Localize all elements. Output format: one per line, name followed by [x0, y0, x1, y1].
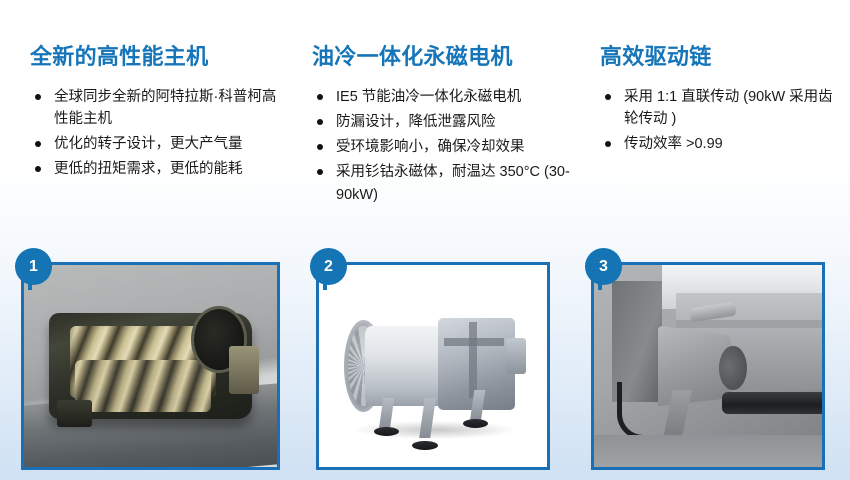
column-2-title: 油冷一体化永磁电机 [312, 44, 576, 70]
feature-column-2: 油冷一体化永磁电机 IE5 节能油冷一体化永磁电机 防漏设计，降低泄露风险 受环… [296, 0, 586, 250]
figure-row: 1 2 3 [0, 248, 850, 480]
photo-housing-rib-v [469, 322, 477, 399]
list-item: 传动效率 >0.99 [600, 133, 836, 155]
feature-column-1: 全新的高性能主机 全球同步全新的阿特拉斯·科普柯高性能主机 优化的转子设计，更大… [0, 0, 296, 250]
drive-train-photo [594, 265, 822, 467]
photo-floor [594, 435, 822, 467]
column-1-title: 全新的高性能主机 [30, 44, 278, 70]
feature-column-3: 高效驱动链 采用 1:1 直联传动 (90kW 采用齿轮传动 ) 传动效率 >0… [586, 0, 850, 250]
badge-number: 2 [310, 248, 347, 285]
column-3-title: 高效驱动链 [600, 44, 836, 70]
list-item: 采用钐钴永磁体，耐温达 350°C (30-90kW) [312, 161, 576, 205]
list-item: 全球同步全新的阿特拉斯·科普柯高性能主机 [30, 86, 278, 130]
column-2-bullet-list: IE5 节能油冷一体化永磁电机 防漏设计，降低泄露风险 受环境影响小，确保冷却效… [312, 86, 576, 205]
figure-badge-2: 2 [310, 248, 347, 285]
photo-mounting-foot [57, 400, 92, 426]
feature-columns: 全新的高性能主机 全球同步全新的阿特拉斯·科普柯高性能主机 优化的转子设计，更大… [0, 0, 850, 250]
list-item: IE5 节能油冷一体化永磁电机 [312, 86, 576, 108]
figure-badge-3: 3 [585, 248, 622, 285]
photo-rubber-foot [463, 419, 488, 428]
pm-motor-photo [319, 265, 547, 467]
photo-coupling-snout [719, 346, 746, 390]
slide-root: 全新的高性能主机 全球同步全新的阿特拉斯·科普柯高性能主机 优化的转子设计，更大… [0, 0, 850, 480]
photo-motor-drum [365, 326, 447, 407]
photo-cable [617, 382, 663, 440]
photo-outlet-port [506, 338, 527, 374]
figure-frame-2 [316, 262, 550, 470]
photo-flange [229, 346, 259, 394]
compressor-airend-photo [24, 265, 277, 467]
figure-frame-1 [21, 262, 280, 470]
list-item: 采用 1:1 直联传动 (90kW 采用齿轮传动 ) [600, 86, 836, 130]
list-item: 优化的转子设计，更大产气量 [30, 133, 278, 155]
photo-rubber-foot [412, 441, 437, 450]
photo-rubber-foot [374, 427, 399, 436]
photo-rotor-lower [75, 360, 212, 413]
list-item: 受环境影响小，确保冷却效果 [312, 136, 576, 158]
figure-badge-1: 1 [15, 248, 52, 285]
badge-number: 3 [585, 248, 622, 285]
photo-dark-cylinder [722, 392, 822, 414]
column-1-bullet-list: 全球同步全新的阿特拉斯·科普柯高性能主机 优化的转子设计，更大产气量 更低的扭矩… [30, 86, 278, 180]
column-3-bullet-list: 采用 1:1 直联传动 (90kW 采用齿轮传动 ) 传动效率 >0.99 [600, 86, 836, 155]
list-item: 防漏设计，降低泄露风险 [312, 111, 576, 133]
figure-frame-3 [591, 262, 825, 470]
list-item: 更低的扭矩需求，更低的能耗 [30, 158, 278, 180]
badge-number: 1 [15, 248, 52, 285]
